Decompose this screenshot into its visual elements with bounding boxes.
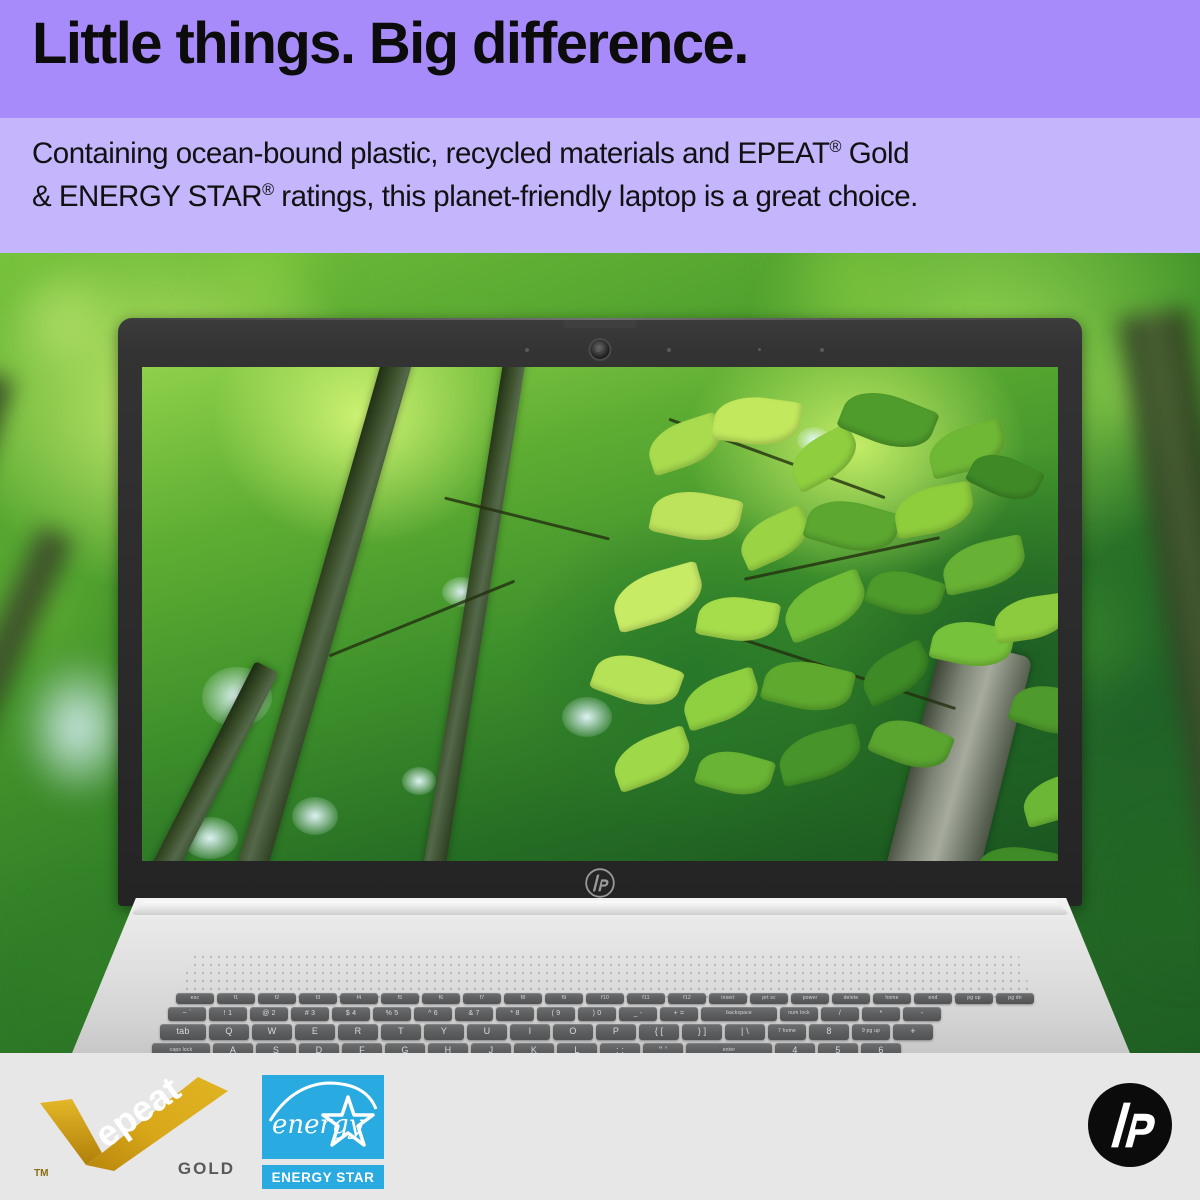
key-delete[interactable]: delete	[832, 993, 870, 1004]
energystar-registered-mark: ®	[262, 181, 273, 199]
screen-leaf	[776, 568, 874, 645]
key-f9[interactable]: f9	[545, 993, 583, 1004]
screen-branch	[329, 580, 516, 658]
screen-leaf	[607, 725, 697, 794]
key-pg-up[interactable]: pg up	[955, 993, 993, 1004]
key--5[interactable]: % 5	[373, 1007, 411, 1021]
sky-gap	[292, 797, 338, 835]
microphone-icon	[525, 348, 529, 352]
key-pg-dn[interactable]: pg dn	[996, 993, 1034, 1004]
energy-star-wordmark-bar: ENERGY STAR	[262, 1165, 384, 1189]
screen-leaf	[694, 743, 777, 804]
key--1[interactable]: ! 1	[209, 1007, 247, 1021]
epeat-trademark-mark: TM	[34, 1168, 48, 1179]
key--[interactable]: | \	[725, 1024, 765, 1040]
key--[interactable]: } ]	[682, 1024, 722, 1040]
key-end[interactable]: end	[914, 993, 952, 1004]
key-f6[interactable]: f6	[422, 993, 460, 1004]
certifications-footer: epeat TM GOLD energy ENERGY STAR	[0, 1053, 1200, 1200]
screen-leaf	[733, 504, 818, 572]
key-a[interactable]: A	[213, 1043, 253, 1053]
key-prt-sc[interactable]: prt sc	[750, 993, 788, 1004]
subheadline-line2-b: ratings, this planet-friendly laptop is …	[274, 180, 918, 213]
screen-leaf	[677, 666, 765, 732]
key--2[interactable]: @ 2	[250, 1007, 288, 1021]
screen-leaf	[711, 391, 803, 451]
key-5[interactable]: 5	[818, 1043, 858, 1053]
subheadline-line1-a: Containing ocean-bound plastic, recycled…	[32, 137, 830, 170]
epeat-gold-badge: epeat TM GOLD	[28, 1075, 243, 1185]
key--4[interactable]: $ 4	[332, 1007, 370, 1021]
microphone-icon	[596, 348, 600, 352]
key-h[interactable]: H	[428, 1043, 468, 1053]
key-caps-lock[interactable]: caps lock	[152, 1043, 210, 1053]
keyboard-function-row[interactable]: escf1f2f3f4f5f6f7f8f9f10f11f12insertprt …	[176, 993, 1034, 1004]
keyboard-number-row[interactable]: ~ `! 1@ 2# 3$ 4% 5^ 6& 7* 8( 9) 0_ -+ =b…	[168, 1007, 941, 1021]
key--9[interactable]: ( 9	[537, 1007, 575, 1021]
screen-leaf	[607, 560, 709, 633]
screen-branch	[444, 496, 610, 540]
laptop-device: escf1f2f3f4f5f6f7f8f9f10f11f12insertprt …	[0, 253, 1200, 1053]
key-home[interactable]: home	[873, 993, 911, 1004]
key--[interactable]: *	[862, 1007, 900, 1021]
laptop-screen	[142, 367, 1058, 861]
energy-star-mark-box: energy	[262, 1075, 384, 1159]
key-e[interactable]: E	[295, 1024, 335, 1040]
epeat-registered-mark: ®	[830, 138, 841, 156]
webcam-icon	[591, 340, 610, 359]
laptop-hinge	[130, 901, 1070, 915]
key-t[interactable]: T	[381, 1024, 421, 1040]
key--6[interactable]: ^ 6	[414, 1007, 452, 1021]
key-f12[interactable]: f12	[668, 993, 706, 1004]
key-backspace[interactable]: backspace	[701, 1007, 777, 1021]
screen-leaf	[991, 592, 1058, 644]
screen-leaf	[863, 562, 946, 625]
key-num-lock[interactable]: num lock	[780, 1007, 818, 1021]
screen-leaf	[975, 840, 1058, 861]
key-7-home[interactable]: 7 home	[768, 1024, 806, 1040]
key--[interactable]: " '	[643, 1043, 683, 1053]
key-power[interactable]: power	[791, 993, 829, 1004]
energy-star-wordmark: ENERGY STAR	[272, 1170, 375, 1185]
microphone-icon	[667, 348, 671, 352]
key--0[interactable]: ) 0	[578, 1007, 616, 1021]
key--[interactable]: +	[893, 1024, 933, 1040]
keyboard-qwerty-row[interactable]: tabQWERTYUIOP{ [} ]| \7 home89 pg up+	[160, 1024, 933, 1040]
key-6[interactable]: 6	[861, 1043, 901, 1053]
screen-leaf	[1018, 768, 1058, 829]
screen-leaf	[891, 480, 978, 539]
key-q[interactable]: Q	[209, 1024, 249, 1040]
key-r[interactable]: R	[338, 1024, 378, 1040]
key-esc[interactable]: esc	[176, 993, 214, 1004]
key-u[interactable]: U	[467, 1024, 507, 1040]
key-9-pg-up[interactable]: 9 pg up	[852, 1024, 890, 1040]
key-8[interactable]: 8	[809, 1024, 849, 1040]
key--[interactable]: _ -	[619, 1007, 657, 1021]
key--[interactable]: -	[903, 1007, 941, 1021]
key--[interactable]: /	[821, 1007, 859, 1021]
screen-leaf	[774, 723, 867, 788]
key-i[interactable]: I	[510, 1024, 550, 1040]
key-y[interactable]: Y	[424, 1024, 464, 1040]
key-s[interactable]: S	[256, 1043, 296, 1053]
energy-star-badge: energy ENERGY STAR	[262, 1075, 384, 1187]
key-k[interactable]: K	[514, 1043, 554, 1053]
screen-leaf	[648, 483, 744, 548]
screen-leaf	[695, 590, 781, 647]
key--3[interactable]: # 3	[291, 1007, 329, 1021]
keyboard-home-row[interactable]: caps lockASDFGHJKL: ;" 'enter456	[152, 1043, 901, 1053]
key--7[interactable]: & 7	[455, 1007, 493, 1021]
key-f[interactable]: F	[342, 1043, 382, 1053]
key--[interactable]: + =	[660, 1007, 698, 1021]
svg-text:energy: energy	[272, 1110, 364, 1140]
key-f2[interactable]: f2	[258, 993, 296, 1004]
key-f3[interactable]: f3	[299, 993, 337, 1004]
key-f10[interactable]: f10	[586, 993, 624, 1004]
webcam-housing-icon	[564, 320, 636, 328]
page-title: Little things. Big difference.	[32, 14, 748, 74]
key-g[interactable]: G	[385, 1043, 425, 1053]
screen-leaf	[938, 534, 1030, 596]
key--[interactable]: : ;	[600, 1043, 640, 1053]
key-f5[interactable]: f5	[381, 993, 419, 1004]
key--8[interactable]: * 8	[496, 1007, 534, 1021]
laptop-lid	[118, 318, 1082, 906]
key-enter[interactable]: enter	[686, 1043, 772, 1053]
key-f8[interactable]: f8	[504, 993, 542, 1004]
key-p[interactable]: P	[596, 1024, 636, 1040]
key-f11[interactable]: f11	[627, 993, 665, 1004]
screen-leaf	[802, 491, 902, 562]
subheadline-line1-b: Gold	[841, 137, 909, 170]
microphone-icon	[758, 348, 761, 351]
key-o[interactable]: O	[553, 1024, 593, 1040]
key-f1[interactable]: f1	[217, 993, 255, 1004]
subheadline-line2-a: & ENERGY STAR	[32, 180, 262, 213]
key-j[interactable]: J	[471, 1043, 511, 1053]
hp-logo	[1088, 1083, 1172, 1167]
product-photo: escf1f2f3f4f5f6f7f8f9f10f11f12insertprt …	[0, 253, 1200, 1053]
screen-leaf	[760, 652, 857, 720]
key-f7[interactable]: f7	[463, 993, 501, 1004]
hp-sustainability-banner: Little things. Big difference. Containin…	[0, 0, 1200, 1200]
sky-gap	[562, 697, 612, 737]
key-f4[interactable]: f4	[340, 993, 378, 1004]
subheadline: Containing ocean-bound plastic, recycled…	[32, 133, 1182, 219]
key--[interactable]: ~ `	[168, 1007, 206, 1021]
hp-logo-lid	[585, 868, 615, 898]
key-4[interactable]: 4	[775, 1043, 815, 1053]
key-w[interactable]: W	[252, 1024, 292, 1040]
key-l[interactable]: L	[557, 1043, 597, 1053]
key-d[interactable]: D	[299, 1043, 339, 1053]
sky-gap	[402, 767, 436, 795]
microphone-icon	[820, 348, 824, 352]
screen-tree-trunk	[213, 367, 421, 861]
key-insert[interactable]: insert	[709, 993, 747, 1004]
epeat-tier-label: GOLD	[178, 1159, 235, 1179]
key-tab[interactable]: tab	[160, 1024, 206, 1040]
key--[interactable]: { [	[639, 1024, 679, 1040]
keyboard[interactable]: escf1f2f3f4f5f6f7f8f9f10f11f12insertprt …	[0, 993, 1200, 1053]
